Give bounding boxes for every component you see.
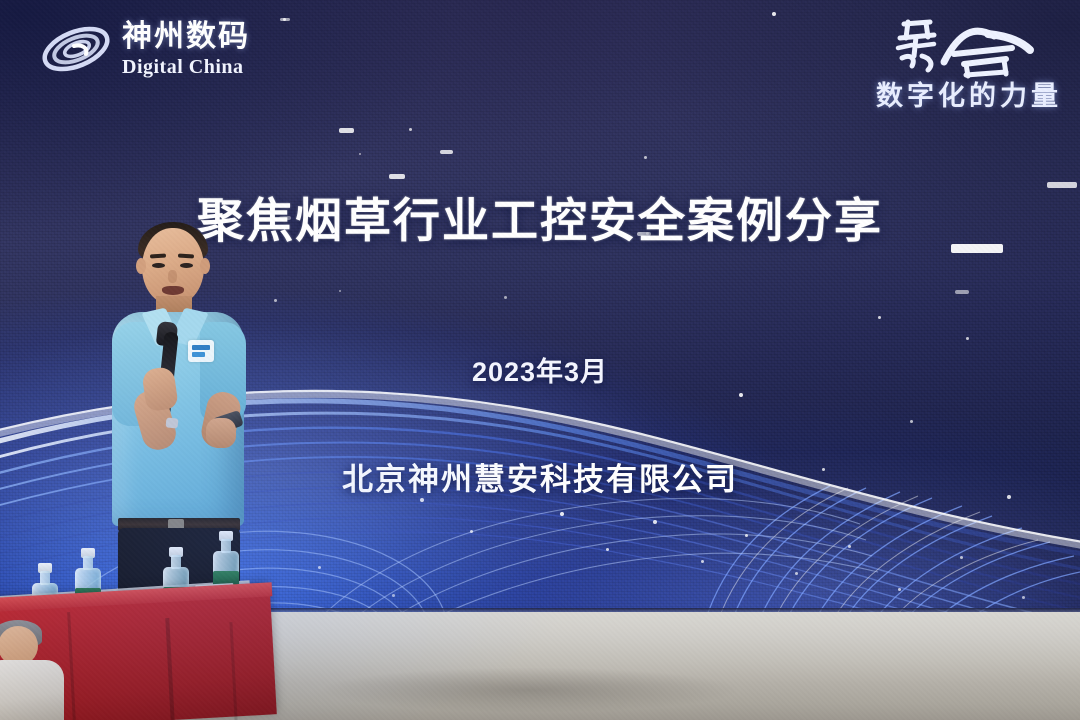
microphone-tip [166, 417, 179, 428]
presenter-ear-left [136, 258, 146, 274]
juhe-brush-icon [882, 14, 1062, 80]
presenter-hand-right [206, 418, 236, 448]
event-logo: 数字化的力量 [876, 14, 1062, 113]
galaxy-swirl-icon [40, 18, 112, 80]
digital-china-cn: 神州数码 [122, 22, 250, 52]
digital-china-en: Digital China [122, 57, 250, 77]
attendee-body [0, 660, 64, 720]
presenter-ear-right [200, 258, 210, 274]
digital-china-logo: 神州数码 Digital China [40, 18, 250, 80]
presenter-mouth [162, 286, 184, 295]
presenter-eye-right [180, 263, 193, 268]
floor-shadow [250, 660, 810, 720]
conference-stage-photo: 神州数码 Digital China [0, 0, 1080, 720]
presenter-eye-left [152, 263, 165, 268]
presenter [96, 222, 276, 622]
seated-attendee [0, 626, 76, 720]
presenter-nose [168, 270, 177, 283]
company-badge [188, 340, 214, 362]
